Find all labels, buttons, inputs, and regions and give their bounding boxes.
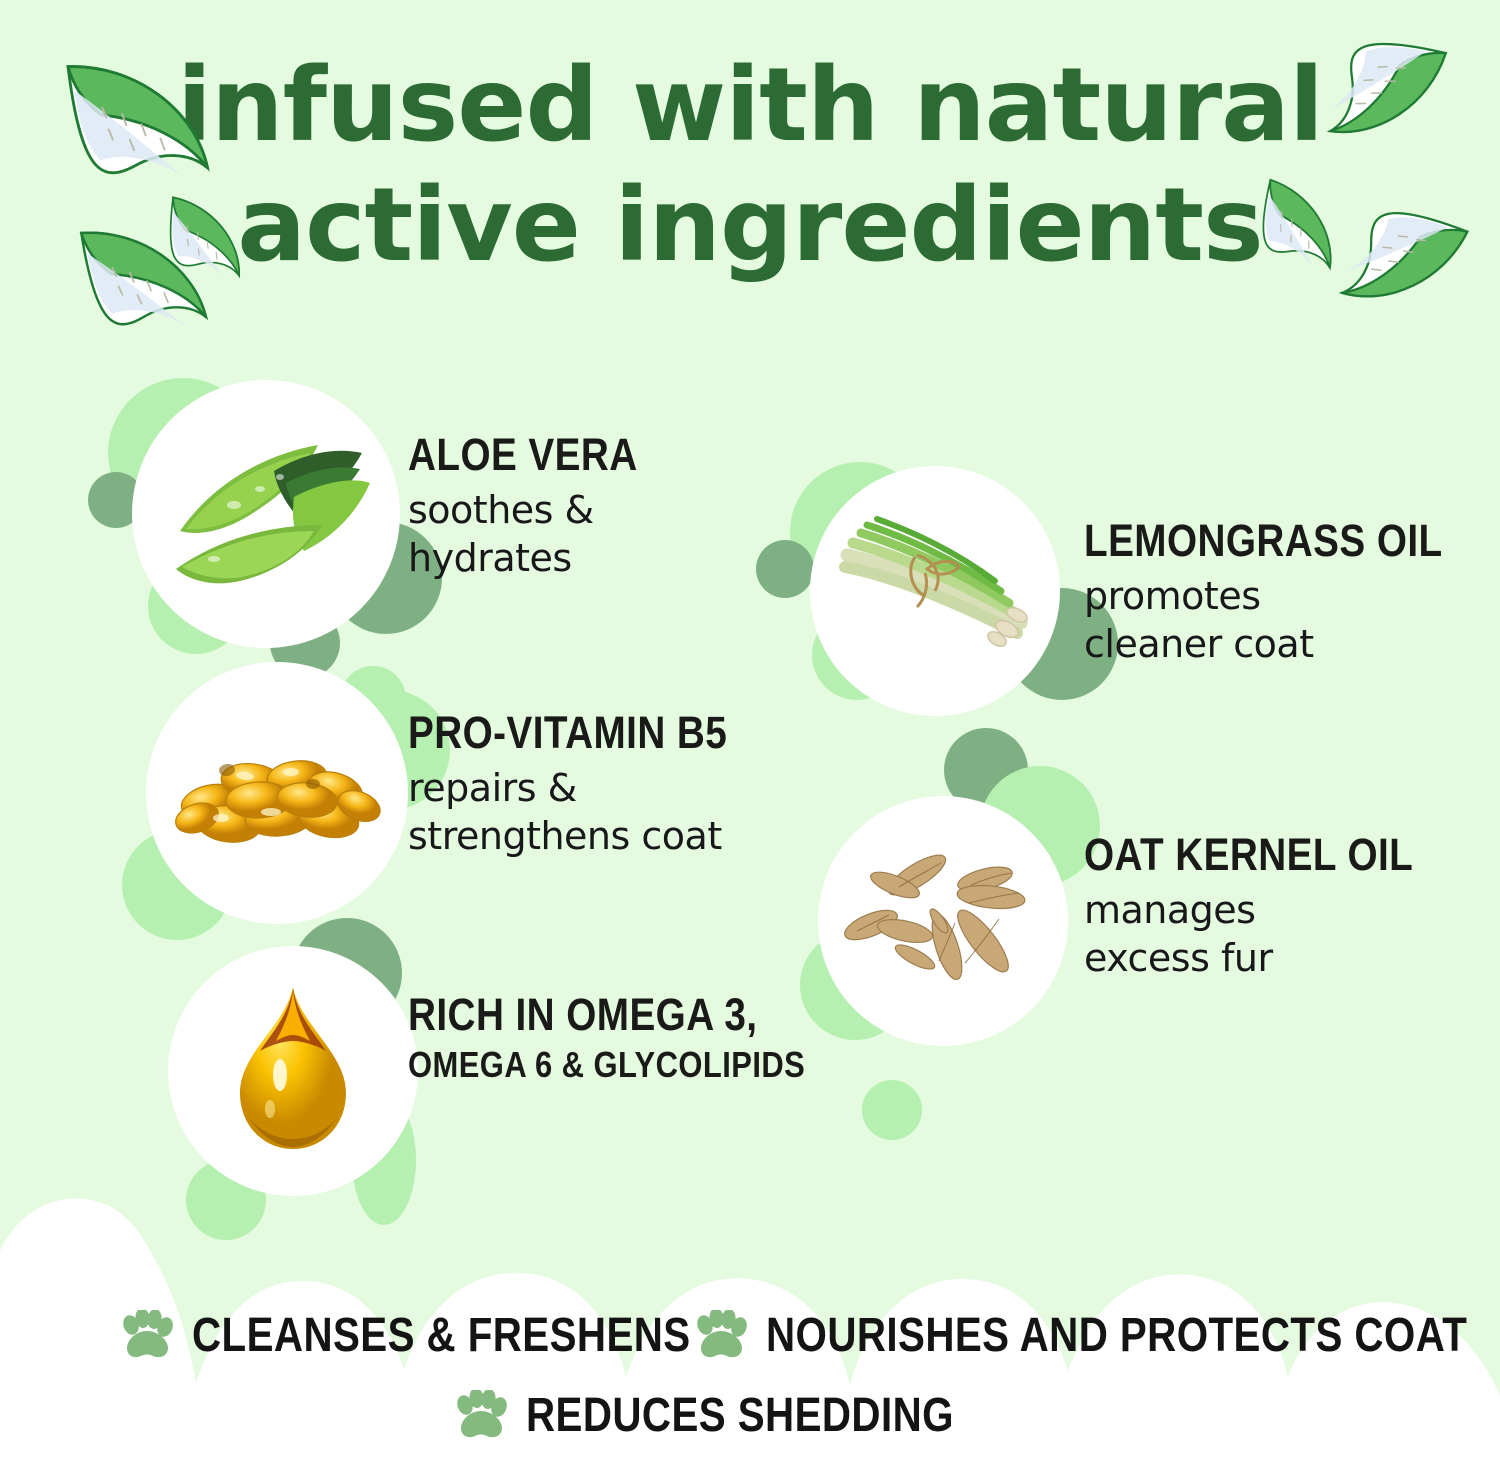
ingredient-lemongrass-text: LEMONGRASS OIL promotes cleaner coat	[1084, 518, 1484, 669]
ingredient-desc-line-1: soothes &	[408, 488, 594, 532]
ingredient-name: RICH IN OMEGA 3,	[408, 992, 769, 1037]
aloe-vera-image-disc	[132, 380, 400, 648]
ingredient-desc-line-2: hydrates	[408, 536, 572, 580]
headline-line-1: infused with natural	[177, 46, 1323, 165]
paw-icon	[118, 1310, 174, 1362]
ingredient-name: ALOE VERA	[408, 432, 735, 477]
ingredient-description: manages excess fur	[1084, 887, 1484, 983]
aloe-slice-decor-left	[44, 38, 294, 338]
benefit-label: CLEANSES & FRESHENS	[192, 1308, 691, 1363]
benefit-label: NOURISHES AND PROTECTS COAT	[766, 1308, 1467, 1363]
decor-blob-mint-12	[862, 1080, 922, 1140]
ingredient-omega-text: RICH IN OMEGA 3, OMEGA 6 & GLYCOLIPIDS	[408, 992, 828, 1083]
paw-icon	[452, 1390, 508, 1442]
ingredient-oat-kernel-text: OAT KERNEL OIL manages excess fur	[1084, 832, 1484, 983]
ingredient-aloe-vera-text: ALOE VERA soothes & hydrates	[408, 432, 788, 583]
ingredient-desc-line-1: manages	[1084, 888, 1255, 932]
ingredient-name: PRO-VITAMIN B5	[408, 710, 752, 755]
oat-kernels-photo	[843, 841, 1043, 1001]
ingredient-name-line-2: OMEGA 6 & GLYCOLIPIDS	[408, 1047, 769, 1083]
aloe-slice-decor-right	[1256, 32, 1500, 392]
ingredient-name: LEMONGRASS OIL	[1084, 518, 1428, 563]
benefit-reduces-shedding: REDUCES SHEDDING	[452, 1388, 1035, 1443]
ingredient-description: promotes cleaner coat	[1084, 573, 1484, 669]
ingredients-infographic: infused with natural active ingredients	[0, 0, 1500, 1463]
omega-oil-image-disc	[168, 946, 418, 1196]
ingredient-pro-vitamin-b5-text: PRO-VITAMIN B5 repairs & strengthens coa…	[408, 710, 808, 861]
ingredient-desc-line-1: repairs &	[408, 766, 577, 810]
benefit-cleanses: CLEANSES & FRESHENS	[118, 1308, 786, 1363]
ingredient-description: soothes & hydrates	[408, 487, 788, 583]
benefit-label: REDUCES SHEDDING	[526, 1388, 954, 1443]
pro-vitamin-b5-image-disc	[146, 662, 408, 924]
benefit-nourishes: NOURISHES AND PROTECTS COAT	[692, 1308, 1500, 1363]
aloe-vera-leaves-photo	[156, 419, 376, 609]
gel-capsules-photo	[167, 718, 387, 868]
ingredient-desc-line-2: cleaner coat	[1084, 622, 1314, 666]
ingredient-desc-line-2: strengthens coat	[408, 814, 722, 858]
ingredient-desc-line-2: excess fur	[1084, 936, 1273, 980]
ingredient-name: OAT KERNEL OIL	[1084, 832, 1428, 877]
lemongrass-image-disc	[810, 466, 1060, 716]
ingredient-desc-line-1: promotes	[1084, 574, 1261, 618]
lemongrass-bundle-photo	[831, 511, 1039, 671]
oil-droplet-photo	[228, 981, 358, 1161]
paw-icon	[692, 1310, 748, 1362]
ingredient-description: repairs & strengthens coat	[408, 765, 808, 861]
oat-kernel-image-disc	[818, 796, 1068, 1046]
